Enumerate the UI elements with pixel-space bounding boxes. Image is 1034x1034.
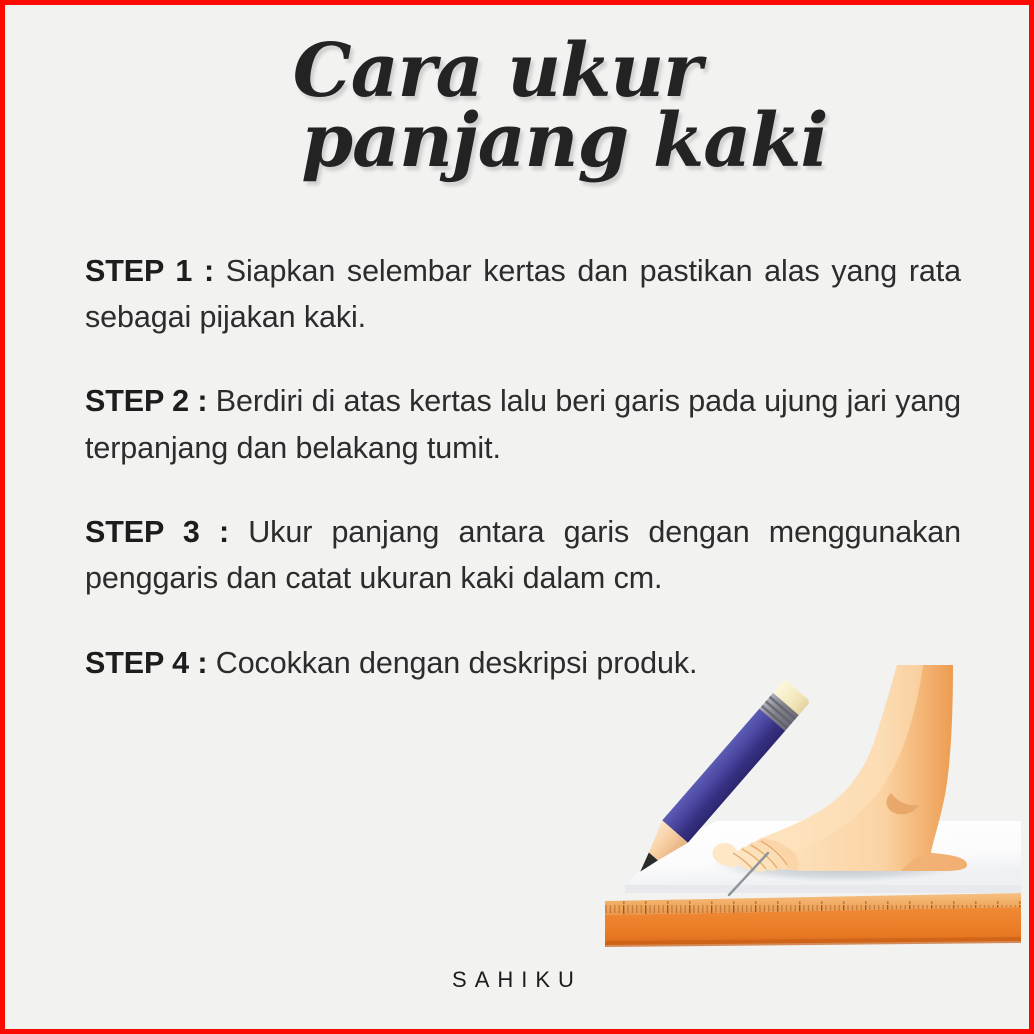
step-label-1: STEP 1 : [85, 254, 214, 288]
page-title: Cara ukur panjang kaki [5, 37, 1029, 175]
step-item-3: STEP 3 : Ukur panjang antara garis denga… [85, 509, 961, 602]
title-line-1: Cara ukur [0, 37, 1029, 105]
step-label-3: STEP 3 : [85, 515, 229, 549]
foot-measuring-illustration [601, 653, 1021, 953]
step-text-1: Siapkan selembar kertas dan pastikan ala… [85, 254, 961, 334]
brand-wordmark: SAHIKU [5, 967, 1029, 993]
step-text-2: Berdiri di atas kertas lalu beri garis p… [85, 384, 961, 464]
poster-canvas: Cara ukur panjang kaki STEP 1 : Siapkan … [0, 0, 1034, 1034]
step-label-4: STEP 4 : [85, 646, 207, 680]
ruler [605, 893, 1021, 947]
title-line-2: panjang kaki [100, 107, 1029, 175]
step-item-2: STEP 2 : Berdiri di atas kertas lalu ber… [85, 378, 961, 471]
step-label-2: STEP 2 : [85, 384, 207, 418]
step-item-1: STEP 1 : Siapkan selembar kertas dan pas… [85, 248, 961, 341]
steps-list: STEP 1 : Siapkan selembar kertas dan pas… [85, 217, 961, 686]
